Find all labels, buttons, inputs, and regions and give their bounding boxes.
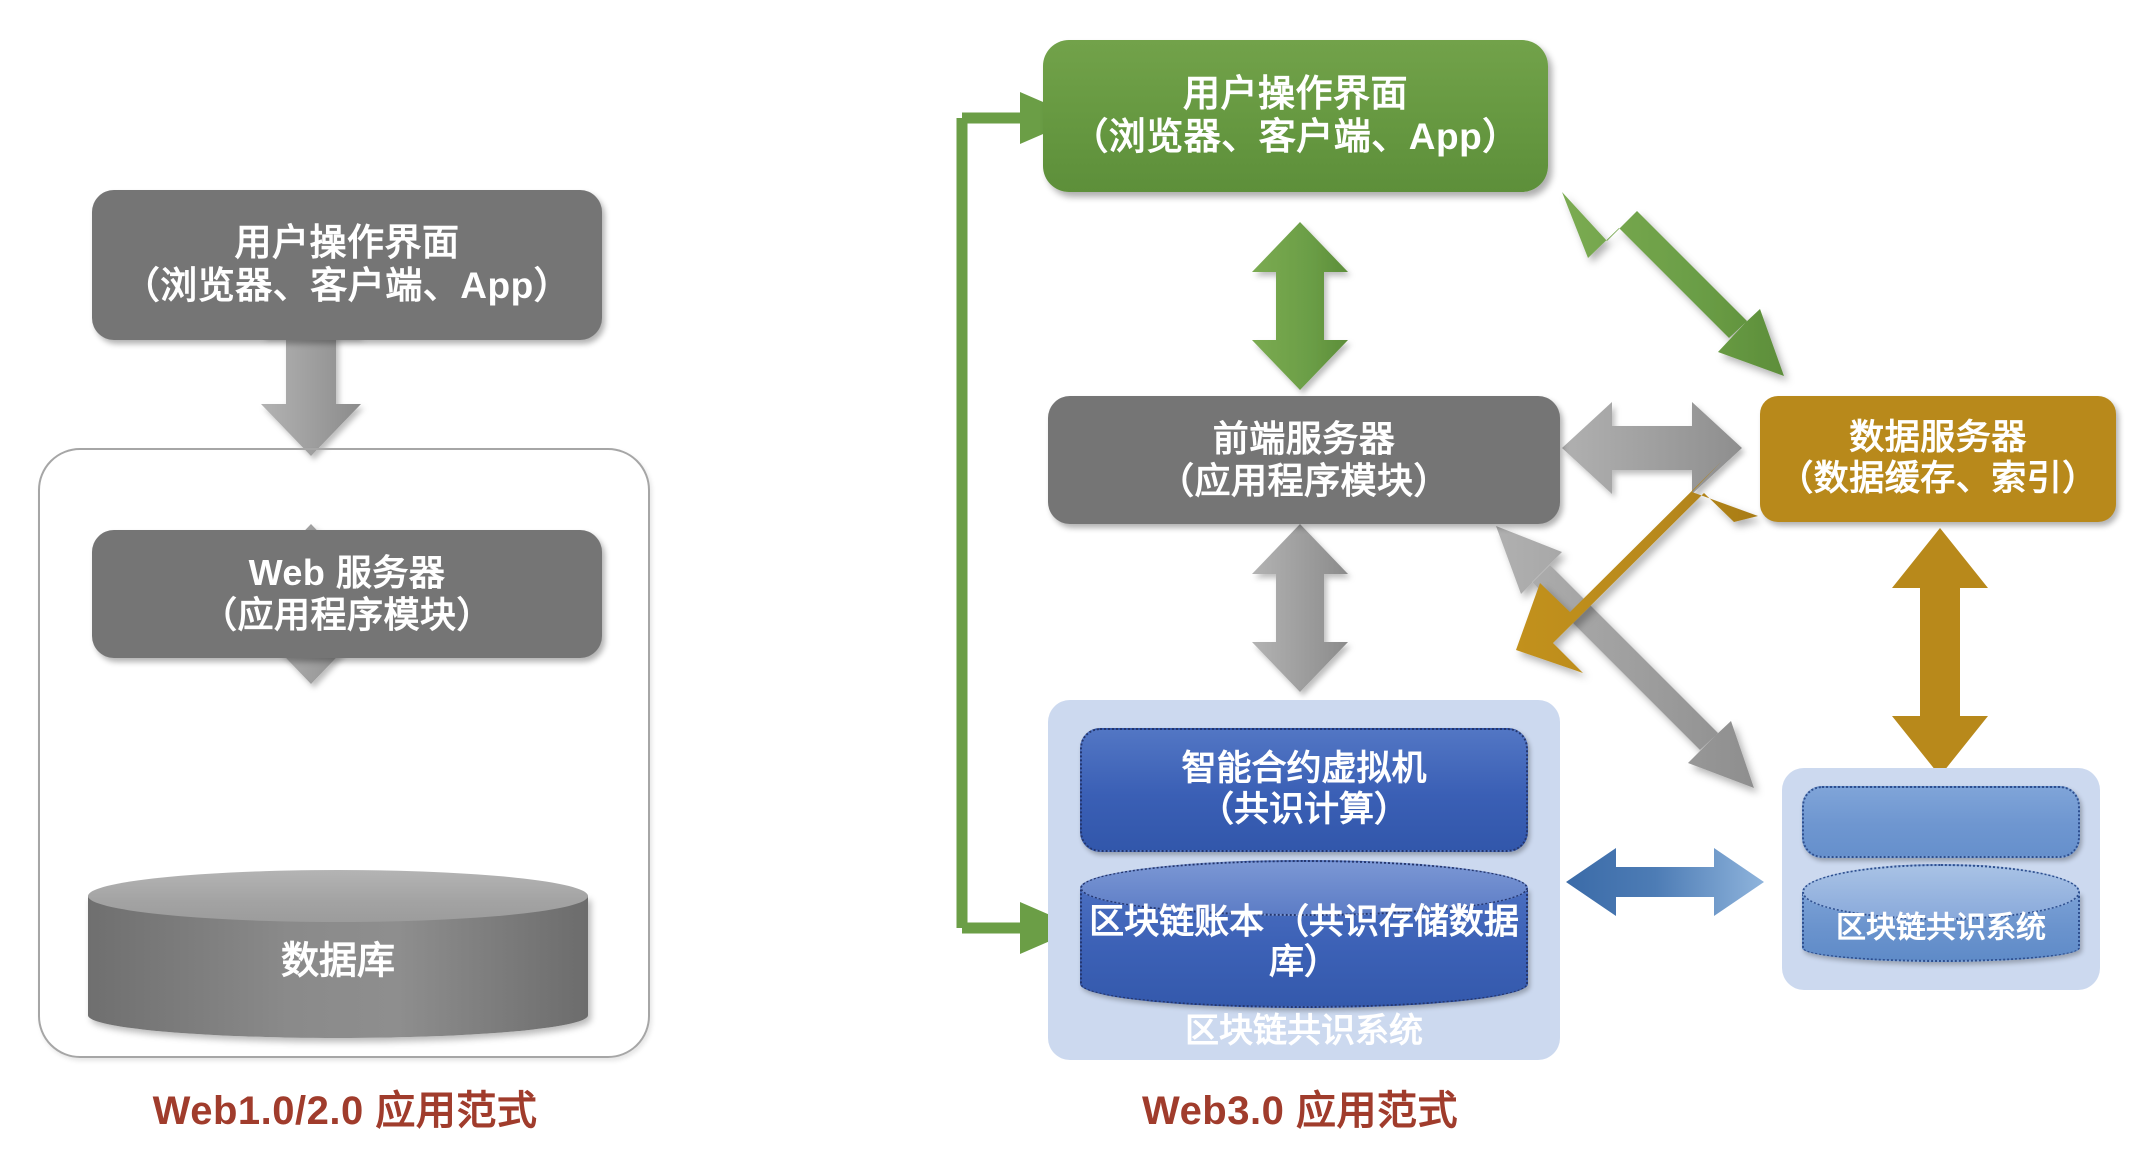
right-frontend-line1: 前端服务器 — [1213, 418, 1396, 460]
left-web-server-node[interactable]: Web 服务器 （应用程序模块） — [92, 530, 602, 658]
right-blockchain-node-group[interactable]: 区块链共识系统 — [1782, 768, 2100, 990]
left-database-node[interactable]: 数据库 — [88, 870, 588, 1038]
arrow-right-blockchain-to-blockchain-node — [1566, 848, 1764, 916]
left-ui-line2: （浏览器、客户端、App） — [123, 265, 571, 308]
arrow-right-frontend-to-blockchain — [1252, 524, 1348, 692]
right-smart-contract-vm-node[interactable]: 智能合约虚拟机 （共识计算） — [1080, 728, 1528, 852]
left-ui-node[interactable]: 用户操作界面 （浏览器、客户端、App） — [92, 190, 602, 340]
left-ui-line1: 用户操作界面 — [235, 222, 460, 265]
left-web-server-line1: Web 服务器 — [249, 552, 446, 594]
arrow-right-frontend-to-dataserver — [1562, 402, 1742, 494]
right-blockchain-node-label: 区块链共识系统 — [1802, 911, 2080, 946]
arrow-right-dataserver-to-blockchain-node — [1892, 528, 1988, 776]
right-data-server-line1: 数据服务器 — [1849, 418, 2027, 459]
right-ui-line2: （浏览器、客户端、App） — [1071, 116, 1519, 159]
right-ledger-line2: （共识存储数据库） — [1269, 902, 1519, 982]
right-data-server-node[interactable]: 数据服务器 （数据缓存、索引） — [1760, 396, 2116, 522]
right-data-server-line2: （数据缓存、索引） — [1778, 459, 2098, 500]
left-database-label: 数据库 — [88, 930, 588, 985]
right-ledger-text: 区块链账本 （共识存储数据库） — [1080, 902, 1528, 983]
diagram-canvas: 用户操作界面 （浏览器、客户端、App） Web 服务器 （应用程序模块） 数据… — [0, 0, 2140, 1174]
right-blockchain-ledger-node[interactable]: 区块链账本 （共识存储数据库） — [1080, 860, 1528, 1008]
database-cylinder-top — [88, 870, 588, 922]
right-ledger-line1: 区块链账本 — [1089, 902, 1264, 941]
left-web-server-line2: （应用程序模块） — [201, 594, 493, 636]
right-panel-caption: Web3.0 应用范式 — [1020, 1078, 1580, 1136]
right-ui-node[interactable]: 用户操作界面 （浏览器、客户端、App） — [1043, 40, 1548, 192]
arrow-right-ui-to-frontend — [1252, 222, 1348, 390]
right-blockchain-group[interactable]: 智能合约虚拟机 （共识计算） 区块链账本 （共识存储数据库） 区块链共识系统 — [1048, 700, 1560, 1060]
right-ui-line1: 用户操作界面 — [1183, 73, 1408, 116]
left-panel-caption: Web1.0/2.0 应用范式 — [40, 1078, 650, 1136]
right-blockchain-group-label: 区块链共识系统 — [1048, 1003, 1560, 1052]
right-vm-line2: （共识计算） — [1199, 790, 1409, 831]
arrow-right-ui-to-dataserver — [1562, 192, 1784, 376]
right-frontend-server-node[interactable]: 前端服务器 （应用程序模块） — [1048, 396, 1560, 524]
right-blockchain-node-cylinder[interactable]: 区块链共识系统 — [1802, 864, 2080, 962]
right-blockchain-node-rect[interactable] — [1802, 786, 2080, 858]
right-vm-line1: 智能合约虚拟机 — [1181, 749, 1426, 790]
right-frontend-line2: （应用程序模块） — [1158, 460, 1450, 502]
